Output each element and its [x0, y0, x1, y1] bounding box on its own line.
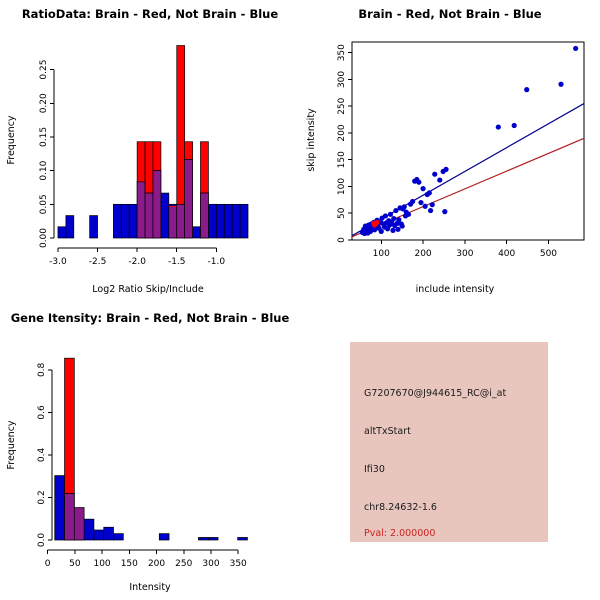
- intensity-scatter-xlabel: include intensity: [416, 284, 495, 295]
- gene-bar-not-brain: [84, 519, 94, 540]
- scatter-point: [418, 200, 423, 205]
- scatter-point: [432, 172, 437, 177]
- scatter-point: [430, 202, 435, 207]
- ratio-bar-not-brain: [161, 193, 169, 238]
- locus-text: chr8.24632-1.6: [364, 502, 437, 513]
- ratio-bar-not-brain: [66, 216, 74, 238]
- scatter-point: [390, 228, 395, 233]
- gene-x-tick-label: 0: [45, 559, 51, 569]
- ratio-bar-not-brain: [58, 227, 66, 238]
- intensity-scatter-title: Brain - Red, Not Brain - Blue: [358, 7, 541, 21]
- gene-y-tick-label: 0.0: [37, 533, 47, 548]
- scatter-point: [383, 213, 388, 218]
- ratio-histogram-xlabel: Log2 Ratio Skip/Include: [92, 284, 204, 295]
- ratio-y-tick-label: 0.20: [39, 93, 49, 113]
- intensity-scatter-svg: Brain - Red, Not Brain - Blue skip inten…: [300, 0, 600, 300]
- scatter-point: [395, 227, 400, 232]
- ratio-bar-overlap: [200, 193, 208, 238]
- ratio-bar-brain: [185, 142, 193, 160]
- scatter-y-tick-label: 300: [337, 71, 347, 88]
- scatter-y-tick-label: 350: [337, 44, 347, 61]
- ratio-histogram-svg: RatioData: Brain - Red, Not Brain - Blue…: [0, 0, 300, 300]
- ratio-x-tick-label: -3.0: [49, 257, 67, 267]
- gene-intensity-ylabel: Frequency: [6, 420, 17, 469]
- scatter-y-tick-label: 150: [337, 151, 347, 168]
- gene-x-tick-label: 350: [230, 559, 247, 569]
- scatter-point: [496, 124, 501, 129]
- scatter-plot-box: [352, 42, 584, 240]
- scatter-point: [427, 190, 432, 195]
- scatter-point: [406, 212, 411, 217]
- scatter-x-tick-label: 500: [540, 249, 557, 259]
- ratio-x-tick-label: -1.5: [168, 257, 186, 267]
- ratio-bar-not-brain: [208, 204, 216, 238]
- scatter-y-tick-label: 250: [337, 97, 347, 114]
- scatter-point: [423, 204, 428, 209]
- gene-bar-overlap: [65, 494, 75, 540]
- scatter-x-tick-label: 400: [498, 249, 515, 259]
- gene-intensity-svg: Gene Itensity: Brain - Red, Not Brain - …: [0, 300, 300, 600]
- intensity-scatter-ylabel: skip intensity: [306, 108, 317, 172]
- ratio-bar-overlap: [169, 206, 177, 238]
- gene-x-tick-label: 300: [202, 559, 219, 569]
- gene-intensity-xlabel: Intensity: [129, 582, 171, 593]
- ratio-y-tick-label: 0.00: [39, 228, 49, 248]
- scatter-point: [388, 212, 393, 217]
- ratio-y-tick-label: 0.10: [39, 160, 49, 180]
- gene-y-tick-label: 0.6: [37, 405, 47, 420]
- intensity-scatter-panel: Brain - Red, Not Brain - Blue skip inten…: [300, 0, 600, 300]
- ratio-y-tick-label: 0.15: [39, 127, 49, 147]
- gene-intensity-title: Gene Itensity: Brain - Red, Not Brain - …: [11, 311, 290, 325]
- ratio-x-tick-label: -2.5: [89, 257, 107, 267]
- gene-bar-not-brain: [114, 534, 124, 540]
- gene-bar-not-brain: [55, 476, 65, 540]
- ratio-bar-brain: [200, 142, 208, 193]
- gene-x-tick-label: 200: [148, 559, 165, 569]
- ratio-bar-overlap: [153, 171, 161, 238]
- scatter-y-tick-label: 0: [337, 237, 347, 243]
- gene-bar-not-brain: [94, 530, 104, 540]
- gene-x-tick-label: 250: [175, 559, 192, 569]
- ratio-bar-not-brain: [232, 204, 240, 238]
- ratio-bar-brain: [145, 142, 153, 193]
- scatter-point: [428, 208, 433, 213]
- ratio-histogram-title: RatioData: Brain - Red, Not Brain - Blue: [22, 7, 279, 21]
- ratio-bar-not-brain: [90, 216, 98, 238]
- intensity-scatter-plot-area: 050100150200250300350100200300400500: [337, 42, 584, 259]
- gene-info-box: G7207670@J944615_RC@i_at altTxStart Ifi3…: [350, 342, 548, 542]
- gene-y-tick-label: 0.4: [37, 448, 47, 463]
- ratio-bar-brain-cap: [169, 206, 177, 207]
- ratio-bar-not-brain: [224, 204, 232, 238]
- ratio-y-tick-label: 0.25: [39, 60, 49, 80]
- scatter-point: [512, 123, 517, 128]
- scatter-x-tick-label: 100: [373, 249, 390, 259]
- ratio-bar-overlap: [177, 204, 185, 238]
- ratio-bar-not-brain: [193, 227, 201, 238]
- gene-bar-not-brain: [198, 537, 208, 540]
- gene-bar-not-brain: [159, 534, 169, 540]
- gene-x-tick-label: 50: [69, 559, 81, 569]
- ratio-bar-brain: [153, 142, 161, 171]
- ratio-bar-not-brain: [240, 204, 248, 238]
- gene-bar-not-brain: [104, 527, 114, 540]
- scatter-x-tick-label: 300: [456, 249, 473, 259]
- scatter-point: [443, 167, 448, 172]
- gene-intensity-plot-area: 0.00.20.40.60.8050100150200250300350: [37, 358, 247, 569]
- scatter-y-tick-label: 100: [337, 178, 347, 195]
- gene-bar-not-brain: [238, 537, 248, 540]
- scatter-x-tick-label: 200: [414, 249, 431, 259]
- pval-text: Pval: 2.000000: [364, 528, 435, 539]
- gene-bar-overlap: [74, 508, 84, 540]
- gene-y-tick-label: 0.8: [37, 362, 47, 377]
- gene-x-tick-label: 100: [93, 559, 110, 569]
- scatter-point: [437, 177, 442, 182]
- scatter-point: [400, 223, 405, 228]
- scatter-point: [379, 229, 384, 234]
- probe-id-text: G7207670@J944615_RC@i_at: [364, 388, 506, 399]
- ratio-histogram-plot-area: 0.000.050.100.150.200.25-3.0-2.5-2.0-1.5…: [39, 46, 248, 267]
- gene-symbol-text: Ifi30: [364, 464, 385, 475]
- ratio-y-tick-label: 0.05: [39, 194, 49, 214]
- gene-y-tick-label: 0.2: [37, 490, 47, 504]
- gene-bar-brain: [65, 358, 75, 493]
- gene-x-tick-label: 150: [121, 559, 138, 569]
- ratio-bar-overlap: [185, 159, 193, 238]
- scatter-point: [442, 209, 447, 214]
- scatter-y-tick-label: 50: [337, 207, 347, 219]
- scatter-y-tick-label: 200: [337, 124, 347, 141]
- scatter-point: [573, 46, 578, 51]
- gene-bar-not-brain: [208, 537, 218, 540]
- ratio-bar-brain: [137, 142, 145, 182]
- scatter-point: [391, 216, 396, 221]
- scatter-point: [558, 82, 563, 87]
- event-type-text: altTxStart: [364, 426, 411, 437]
- gene-info-panel: G7207670@J944615_RC@i_at altTxStart Ifi3…: [300, 300, 600, 600]
- ratio-bar-overlap: [137, 182, 145, 238]
- ratio-bar-overlap: [145, 193, 153, 238]
- scatter-point: [372, 222, 377, 227]
- ratio-bar-not-brain: [113, 204, 121, 238]
- scatter-point: [402, 204, 407, 209]
- scatter-points: [360, 46, 578, 236]
- ratio-x-tick-label: -2.0: [128, 257, 146, 267]
- scatter-point: [410, 199, 415, 204]
- ratio-histogram-ylabel: Frequency: [6, 115, 17, 164]
- ratio-histogram-panel: RatioData: Brain - Red, Not Brain - Blue…: [0, 0, 300, 300]
- ratio-bar-not-brain: [129, 204, 137, 238]
- ratio-bar-not-brain: [216, 204, 224, 238]
- gene-intensity-panel: Gene Itensity: Brain - Red, Not Brain - …: [0, 300, 300, 600]
- scatter-point: [420, 186, 425, 191]
- scatter-point: [524, 87, 529, 92]
- ratio-bar-brain: [177, 46, 185, 205]
- scatter-point: [416, 180, 421, 185]
- ratio-x-tick-label: -1.0: [208, 257, 226, 267]
- ratio-bar-not-brain: [121, 204, 129, 238]
